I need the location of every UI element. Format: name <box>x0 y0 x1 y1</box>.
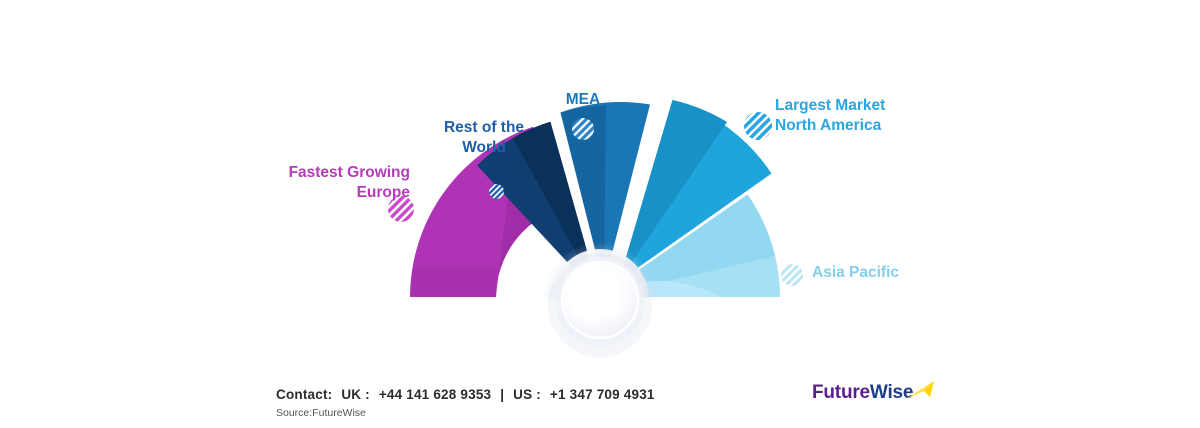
source-line: Source:FutureWise <box>276 407 366 419</box>
segment-label-europe-line1: Fastest Growing <box>250 163 410 183</box>
us-label: US : <box>513 387 541 402</box>
segment-label-north-america-line2: North America <box>775 116 935 136</box>
futurewise-logo-text: FutureWise <box>812 382 913 404</box>
footer: Contact: UK : +44 141 628 9353 | US : +1… <box>0 370 1200 428</box>
hatched-bullet-rest-of-world-glyph <box>489 184 504 199</box>
segment-label-north-america-line1: Largest Market <box>775 96 935 116</box>
segment-label-asia-pacific: Asia Pacific <box>812 263 899 283</box>
segment-label-mea-line1: MEA <box>543 90 623 110</box>
segment-label-rest-of-world-line2: World <box>424 138 544 158</box>
logo-word-future: Future <box>812 382 870 403</box>
segment-label-asia-pacific-line1: Asia Pacific <box>812 263 899 283</box>
segment-label-rest-of-world-line1: Rest of the <box>424 118 544 138</box>
futurewise-logo[interactable]: FutureWise <box>812 382 932 416</box>
contact-line: Contact: UK : +44 141 628 9353 | US : +1… <box>276 387 660 402</box>
logo-swoosh-icon <box>904 380 936 404</box>
uk-label: UK : <box>341 387 370 402</box>
us-phone[interactable]: +1 347 709 4931 <box>550 387 655 402</box>
pie-chart-container: Fastest Growing Europe Rest of the World… <box>0 0 1200 370</box>
segment-label-north-america: Largest Market North America <box>775 96 935 136</box>
segment-label-europe: Fastest Growing Europe <box>250 163 410 203</box>
hatched-bullet-asia-pacific-glyph <box>781 264 803 286</box>
infographic-canvas: Fastest Growing Europe Rest of the World… <box>0 0 1200 428</box>
uk-phone[interactable]: +44 141 628 9353 <box>379 387 491 402</box>
segment-label-mea: MEA <box>543 90 623 110</box>
hatched-bullet-north-america-glyph <box>744 112 772 140</box>
segment-label-rest-of-world: Rest of the World <box>424 118 544 158</box>
hatched-bullet-mea-glyph <box>572 118 594 140</box>
segment-label-europe-line2: Europe <box>250 183 410 203</box>
half-donut-pie-chart <box>0 0 1200 370</box>
hub-highlight <box>567 265 621 319</box>
phone-separator: | <box>500 387 504 402</box>
contact-label: Contact: <box>276 387 332 402</box>
